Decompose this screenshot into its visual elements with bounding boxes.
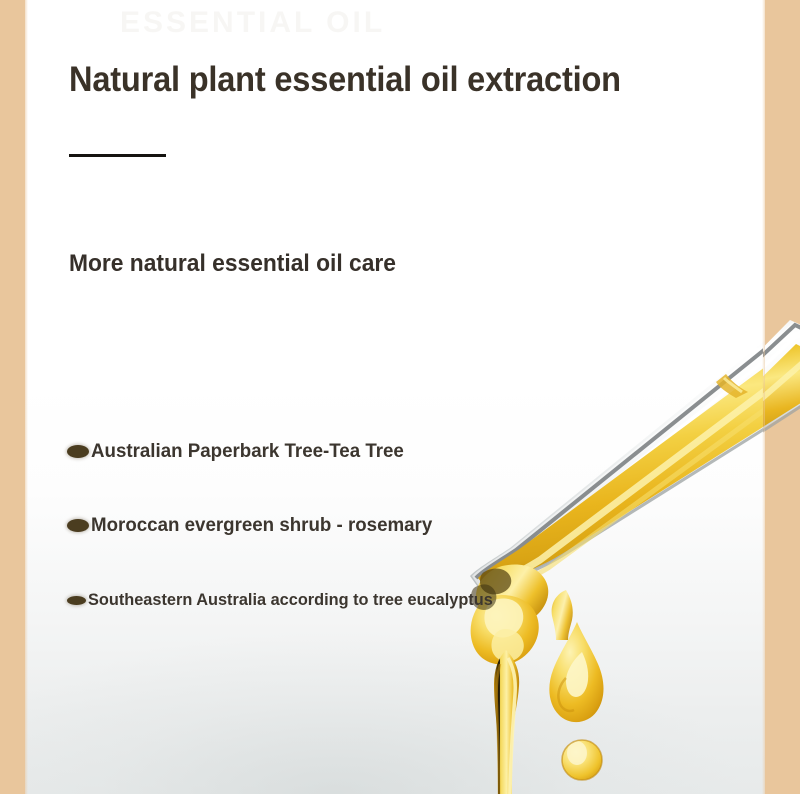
list-item: Southeastern Australia according to tree…	[67, 590, 510, 610]
right-accent-bar	[765, 0, 800, 794]
left-accent-bar	[0, 0, 25, 794]
right-accent-bar-edge	[762, 0, 765, 794]
list-item: Moroccan evergreen shrub - rosemary	[67, 514, 446, 537]
list-item-label: Australian Paperbark Tree-Tea Tree	[91, 440, 404, 463]
list-item-label: Southeastern Australia according to tree…	[88, 590, 493, 610]
list-item-label: Moroccan evergreen shrub - rosemary	[91, 514, 432, 537]
list-item: Australian Paperbark Tree-Tea Tree	[67, 440, 417, 463]
page-subtitle: More natural essential oil care	[69, 248, 396, 280]
bullet-dot-icon	[67, 445, 89, 458]
background-vignette	[25, 520, 765, 794]
title-divider	[69, 154, 166, 157]
page-title: Natural plant essential oil extraction	[69, 58, 621, 102]
bullet-dot-icon	[67, 596, 86, 605]
bullet-dot-icon	[67, 519, 89, 532]
watermark-text: ESSENTIAL OIL	[120, 6, 590, 46]
poster-canvas: ESSENTIAL OIL	[0, 0, 800, 794]
left-accent-bar-edge	[25, 0, 28, 794]
